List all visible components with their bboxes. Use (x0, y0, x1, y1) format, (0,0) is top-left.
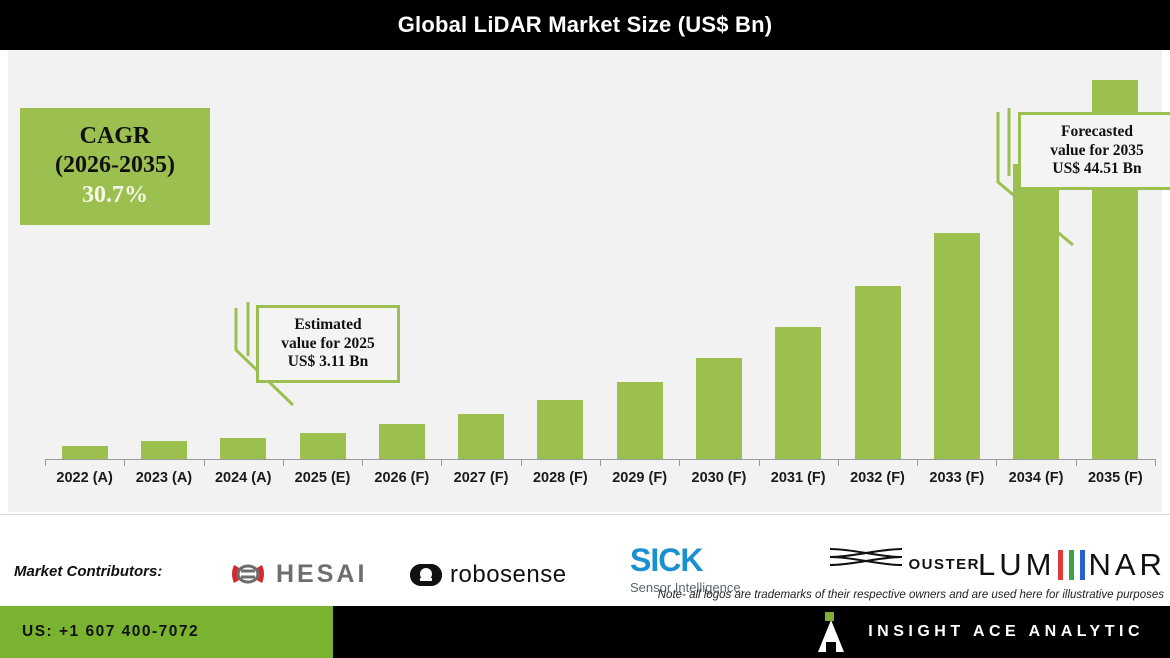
x-axis-label: 2023 (A) (124, 470, 203, 486)
x-tick (600, 459, 601, 466)
x-tick (996, 459, 997, 466)
x-tick (441, 459, 442, 466)
bar-2026F (379, 424, 425, 459)
estimated-callout-line2: value for 2025 (281, 335, 375, 354)
bar-2027F (458, 414, 504, 459)
forecasted-callout-line3: US$ 44.51 Bn (1052, 160, 1141, 179)
x-tick (124, 459, 125, 466)
sick-logo: SICK Sensor Intelligence. (630, 544, 744, 595)
title-bar: Global LiDAR Market Size (US$ Bn) (0, 0, 1170, 50)
x-axis-label: 2026 (F) (362, 470, 441, 486)
forecasted-callout-line2: value for 2035 (1050, 142, 1144, 161)
bar-2033F (934, 233, 980, 459)
trademark-note: Note- all logos are trademarks of their … (658, 589, 1164, 601)
x-tick (45, 459, 46, 466)
robosense-logo: robosense (410, 561, 567, 589)
estimated-callout-line3: US$ 3.11 Bn (288, 353, 369, 372)
x-axis-label: 2030 (F) (679, 470, 758, 486)
x-tick (521, 459, 522, 466)
cagr-label: CAGR (80, 123, 151, 149)
robosense-logo-text: robosense (450, 561, 567, 589)
cagr-period: (2026-2035) (55, 150, 175, 180)
x-axis-label: 2027 (F) (441, 470, 520, 486)
x-axis-label: 2031 (F) (759, 470, 838, 486)
x-axis-label: 2024 (A) (204, 470, 283, 486)
bar-2031F (775, 327, 821, 459)
luminar-bar-red-icon (1058, 550, 1063, 580)
hesai-logo-text: HESAI (276, 560, 367, 589)
x-axis-label: 2033 (F) (917, 470, 996, 486)
x-tick (679, 459, 680, 466)
footer-phone-number[interactable]: US: +1 607 400-7072 (22, 623, 199, 641)
x-axis-label: 2025 (E) (283, 470, 362, 486)
cagr-value: 30.7% (82, 180, 148, 210)
hesai-mark-icon (228, 559, 268, 589)
bar-2022A (62, 446, 108, 459)
sick-logo-text: SICK (630, 544, 744, 576)
bar-2032F (855, 286, 901, 459)
x-tick (362, 459, 363, 466)
luminar-logo: LUM NAR (978, 547, 1166, 583)
x-axis-label: 2029 (F) (600, 470, 679, 486)
ouster-mark-icon (828, 556, 908, 573)
bar-2024A (220, 438, 266, 459)
luminar-bar-blue-icon (1080, 550, 1085, 580)
luminar-logo-text-a: LUM (978, 547, 1055, 583)
hesai-logo: HESAI (228, 559, 367, 589)
luminar-logo-text-b: NAR (1088, 547, 1165, 583)
insight-ace-logo-icon (814, 612, 850, 652)
cagr-callout-box: CAGR (2026-2035) 30.7% (20, 108, 210, 225)
x-tick (1076, 459, 1077, 466)
x-tick (838, 459, 839, 466)
robosense-mark-icon (410, 564, 442, 586)
x-axis-label: 2035 (F) (1076, 470, 1155, 486)
footer-contact-block: US: +1 607 400-7072 (0, 606, 333, 658)
bar-2029F (617, 382, 663, 459)
forecasted-callout-line1: Forecasted (1061, 123, 1133, 142)
estimated-value-callout: Estimated value for 2025 US$ 3.11 Bn (256, 305, 400, 383)
chart-panel: 2022 (A)2023 (A)2024 (A)2025 (E)2026 (F)… (8, 50, 1162, 512)
x-axis-label: 2034 (F) (996, 470, 1075, 486)
x-tick (1155, 459, 1156, 466)
x-tick (283, 459, 284, 466)
bar-chart-plot-area (45, 50, 1155, 459)
x-axis-labels: 2022 (A)2023 (A)2024 (A)2025 (E)2026 (F)… (45, 470, 1155, 502)
bar-2025E (300, 433, 346, 459)
bar-2034F (1013, 164, 1059, 459)
footer-bar: US: +1 607 400-7072 INSIGHT ACE ANALYTIC (0, 606, 1170, 658)
market-contributors-label: Market Contributors: (14, 563, 162, 580)
x-tick (204, 459, 205, 466)
x-axis-label: 2022 (A) (45, 470, 124, 486)
x-axis-label: 2032 (F) (838, 470, 917, 486)
x-axis-label: 2028 (F) (521, 470, 600, 486)
estimated-callout-line1: Estimated (294, 316, 361, 335)
luminar-bar-green-icon (1069, 550, 1074, 580)
market-contributors-strip: Market Contributors: HESAI rob (0, 514, 1170, 607)
bar-2023A (141, 441, 187, 459)
infographic-page: Global LiDAR Market Size (US$ Bn) 2022 (… (0, 0, 1170, 658)
ouster-logo-text: OUSTER (908, 556, 980, 573)
page-title: Global LiDAR Market Size (US$ Bn) (398, 12, 773, 38)
footer-brand-name: INSIGHT ACE ANALYTIC (868, 623, 1144, 641)
ouster-logo: OUSTER (828, 547, 980, 574)
footer-brand-block: INSIGHT ACE ANALYTIC (814, 606, 1144, 658)
bar-2028F (537, 400, 583, 459)
bar-2030F (696, 358, 742, 459)
forecasted-value-callout: Forecasted value for 2035 US$ 44.51 Bn (1018, 112, 1170, 190)
x-tick (759, 459, 760, 466)
x-tick (917, 459, 918, 466)
